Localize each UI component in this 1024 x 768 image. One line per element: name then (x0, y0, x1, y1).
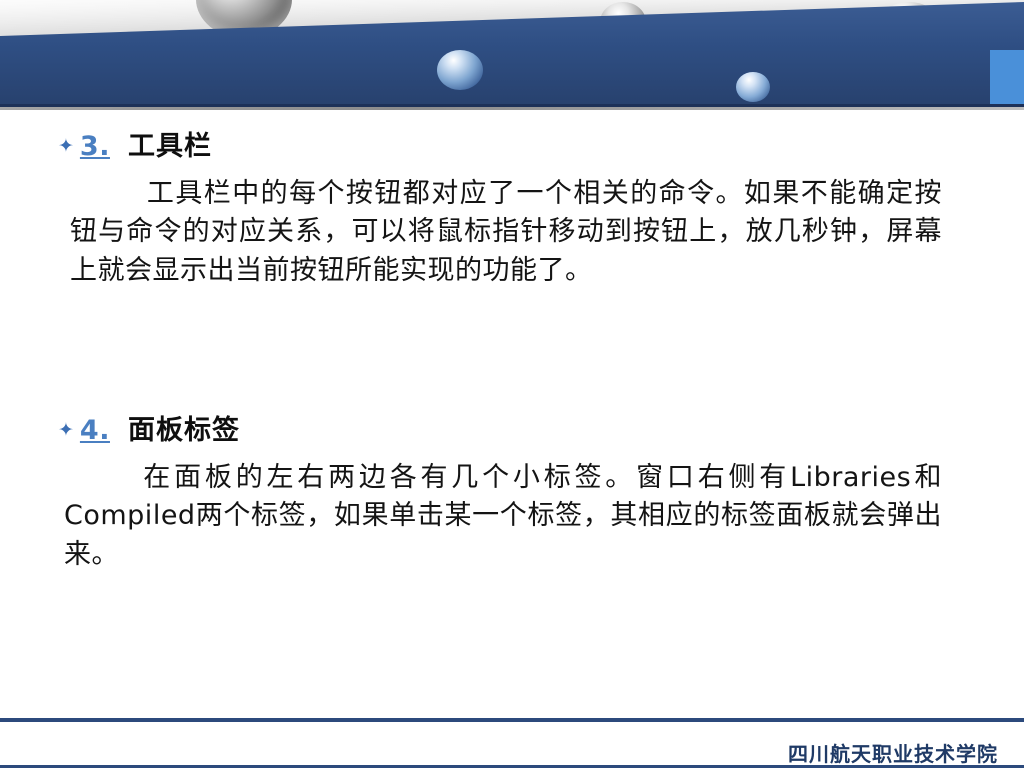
banner-bottom-rule (0, 104, 1024, 107)
bullet-title-4: 面板标签 (128, 408, 240, 447)
slide-footer: 四川航天职业技术学院 (0, 718, 1024, 768)
bullet-block-4: ✦ 4. 面板标签 在面板的左右两边各有几个小标签。窗口右侧有Libraries… (58, 408, 970, 574)
bullet-block-3: ✦ 3. 工具栏 工具栏中的每个按钮都对应了一个相关的命令。如果不能确定按钮与命… (58, 124, 970, 290)
diamond-bullet-icon: ✦ (58, 421, 74, 440)
bullet-number-3: 3. (80, 131, 110, 162)
footer-institution-name: 四川航天职业技术学院 (788, 738, 998, 767)
bullet-paragraph-3: 工具栏中的每个按钮都对应了一个相关的命令。如果不能确定按钮与命令的对应关系，可以… (58, 175, 942, 290)
bullet-paragraph-4-text: 在面板的左右两边各有几个小标签。窗口右侧有Libraries和Compiled两… (64, 462, 942, 570)
bullet-number-4: 4. (80, 415, 110, 446)
slide: ✦ 3. 工具栏 工具栏中的每个按钮都对应了一个相关的命令。如果不能确定按钮与命… (0, 0, 1024, 768)
slide-banner (0, 0, 1024, 110)
diamond-bullet-icon: ✦ (58, 137, 74, 156)
bullet-heading-3: ✦ 3. 工具栏 (58, 124, 970, 163)
bullet-title-3: 工具栏 (128, 124, 212, 163)
slide-content: ✦ 3. 工具栏 工具栏中的每个按钮都对应了一个相关的命令。如果不能确定按钮与命… (0, 110, 1024, 718)
bullet-heading-4: ✦ 4. 面板标签 (58, 408, 970, 447)
bullet-paragraph-4: 在面板的左右两边各有几个小标签。窗口右侧有Libraries和Compiled两… (58, 459, 942, 574)
bullet-paragraph-3-text: 工具栏中的每个按钮都对应了一个相关的命令。如果不能确定按钮与命令的对应关系，可以… (70, 178, 942, 286)
